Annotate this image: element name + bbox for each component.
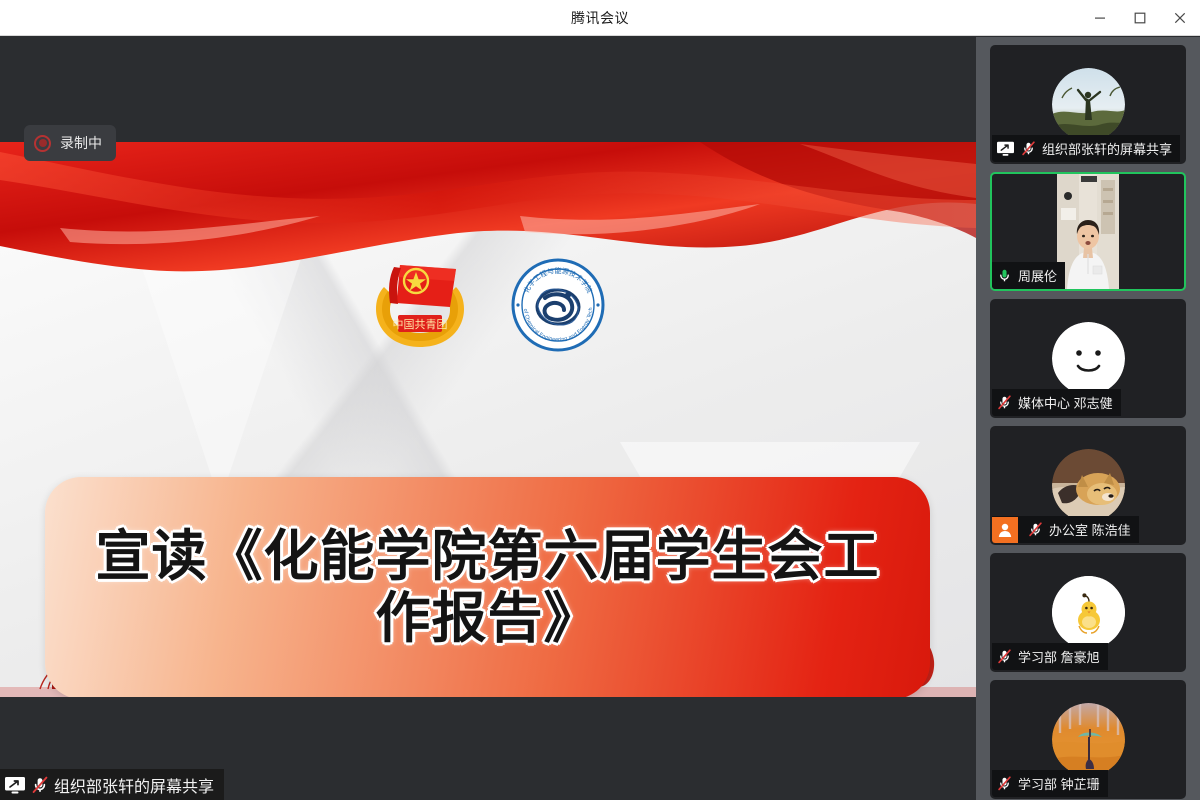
mic-muted-icon xyxy=(996,775,1013,792)
participant-name: 媒体中心 邓志健 xyxy=(1018,393,1113,412)
slide-title-card: 宣读《化能学院第六届学生会工作报告》 xyxy=(45,477,930,697)
participant-name: 组织部张轩的屏幕共享 xyxy=(1042,139,1172,158)
mic-muted-icon xyxy=(1027,521,1044,538)
close-icon xyxy=(1174,12,1186,24)
participant-tile[interactable]: 媒体中心 邓志健 xyxy=(990,299,1186,418)
avatar xyxy=(1052,449,1125,522)
screen-share-icon xyxy=(4,775,26,795)
mic-muted-icon xyxy=(996,648,1013,665)
mic-muted-icon xyxy=(1020,140,1037,157)
window-controls xyxy=(1080,0,1200,36)
avatar xyxy=(1052,322,1125,395)
participant-label-bar: 学习部 钟芷珊 xyxy=(992,770,1108,797)
participant-name: 办公室 陈浩佳 xyxy=(1049,520,1131,539)
school-of-chemical-engineering-emblem: 化学工程与能源技术学院 School of Chemical Engineeri… xyxy=(510,257,606,358)
person-icon xyxy=(997,522,1013,538)
participant-name: 周展伦 xyxy=(1018,266,1057,285)
participant-tile[interactable]: 学习部 钟芷珊 xyxy=(990,680,1186,799)
record-dot-icon xyxy=(34,135,51,152)
participant-tile[interactable]: 办公室 陈浩佳 xyxy=(990,426,1186,545)
avatar xyxy=(1052,576,1125,649)
participant-tile[interactable]: 周展伦 xyxy=(990,172,1186,291)
mic-active-icon xyxy=(996,267,1013,284)
share-owner-name: 组织部张轩的屏幕共享 xyxy=(54,773,214,797)
mic-muted-icon xyxy=(996,394,1013,411)
window-titlebar: 腾讯会议 xyxy=(0,0,1200,36)
minimize-icon xyxy=(1094,12,1106,24)
participant-rail[interactable]: 组织部张轩的屏幕共享 xyxy=(976,37,1200,800)
slide-title: 宣读《化能学院第六届学生会工作报告》 xyxy=(73,526,902,649)
avatar xyxy=(1052,68,1125,141)
maximize-icon xyxy=(1134,12,1146,24)
participant-label-bar: 媒体中心 邓志健 xyxy=(992,389,1121,416)
slide-logos: 中国共青团 xyxy=(0,257,976,358)
close-button[interactable] xyxy=(1160,0,1200,36)
participant-tile[interactable]: 学习部 詹豪旭 xyxy=(990,553,1186,672)
participant-label-bar: 学习部 詹豪旭 xyxy=(992,643,1108,670)
shared-screen-slide[interactable]: 中国共青团 xyxy=(0,142,976,697)
communist-youth-league-emblem: 中国共青团 xyxy=(370,259,470,356)
participant-name: 学习部 詹豪旭 xyxy=(1018,647,1100,666)
meeting-stage: 录制中 xyxy=(0,37,976,800)
video-feed xyxy=(1057,174,1119,289)
window-title: 腾讯会议 xyxy=(571,8,629,28)
share-owner-label: 组织部张轩的屏幕共享 xyxy=(0,769,224,800)
svg-text:中国共青团: 中国共青团 xyxy=(393,318,448,331)
participant-label-bar: 组织部张轩的屏幕共享 xyxy=(992,135,1180,162)
mic-muted-icon xyxy=(30,775,50,795)
recording-badge: 录制中 xyxy=(24,125,116,161)
host-badge xyxy=(992,517,1018,543)
maximize-button[interactable] xyxy=(1120,0,1160,36)
participant-label-bar: 办公室 陈浩佳 xyxy=(992,516,1139,543)
tencent-meeting-window: 腾讯会议 录制中 xyxy=(0,0,1200,800)
smiley-face-icon xyxy=(1052,322,1125,395)
minimize-button[interactable] xyxy=(1080,0,1120,36)
avatar xyxy=(1052,703,1125,776)
screen-share-icon xyxy=(996,140,1015,157)
participant-label-bar: 周展伦 xyxy=(992,262,1065,289)
participant-name: 学习部 钟芷珊 xyxy=(1018,774,1100,793)
participant-tile[interactable]: 组织部张轩的屏幕共享 xyxy=(990,45,1186,164)
recording-label: 录制中 xyxy=(60,133,102,153)
